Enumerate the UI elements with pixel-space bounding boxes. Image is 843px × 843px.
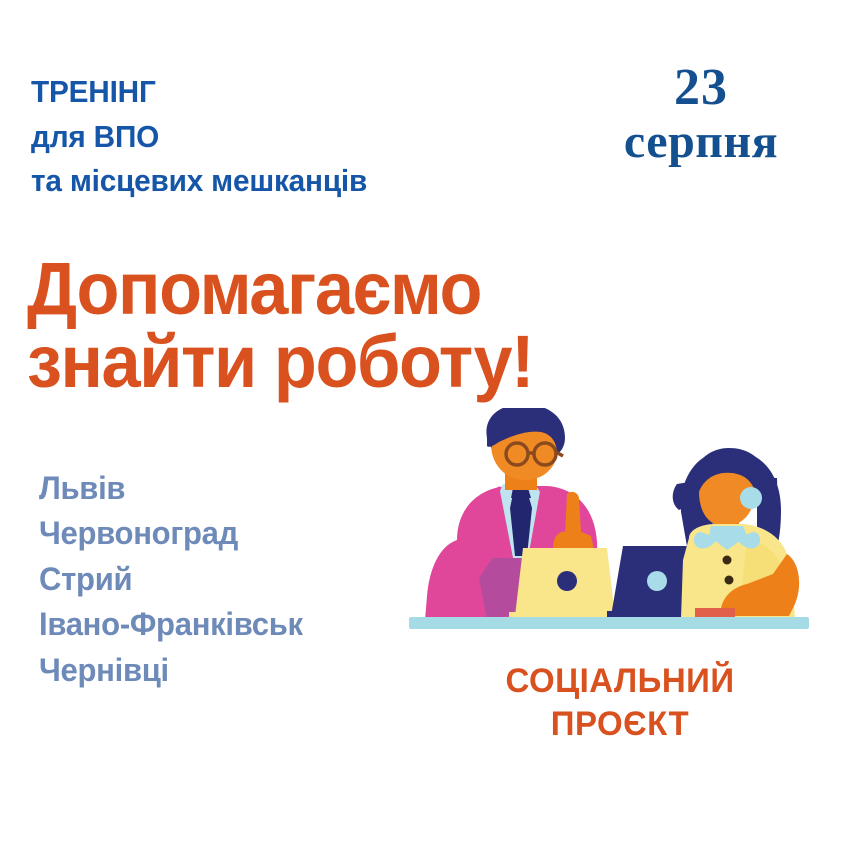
city-item-stryi: Стрий (39, 557, 427, 602)
city-item-ivano-frankivsk: Івано-Франківськ (39, 602, 427, 647)
main-headline: Допомагаємо знайти роботу! (27, 252, 616, 399)
city-item-lviv: Львів (39, 466, 427, 511)
woman-figure (673, 448, 799, 618)
city-item-chernivtsi: Чернівці (39, 648, 427, 693)
people-at-laptops-illustration (395, 408, 835, 643)
yellow-laptop-logo (557, 571, 577, 591)
caption-line-1: СОЦІАЛЬНИЙ (460, 660, 780, 703)
city-item-chervonohrad: Червоноград (39, 511, 427, 556)
eyebrow-line-3: та місцевих мешканців (31, 159, 549, 204)
event-date: 23 серпня (570, 60, 832, 168)
earring (740, 487, 762, 509)
date-month: серпня (570, 117, 832, 168)
date-day: 23 (570, 60, 832, 115)
blouse-button (723, 556, 732, 565)
blouse-button (725, 576, 734, 585)
poster-canvas: ТРЕНІНГ для ВПО та місцевих мешканців 23… (0, 0, 843, 843)
eyebrow-line-1: ТРЕНІНГ (31, 70, 549, 115)
caption-line-2: ПРОЄКТ (460, 703, 780, 746)
eyebrow-line-2: для ВПО (31, 115, 549, 160)
headline-line-1: Допомагаємо (27, 252, 616, 325)
eyebrow-heading: ТРЕНІНГ для ВПО та місцевих мешканців (31, 70, 549, 204)
yellow-laptop (509, 548, 621, 620)
desk-surface (409, 617, 809, 629)
social-project-caption: СОЦІАЛЬНИЙ ПРОЄКТ (460, 660, 780, 746)
city-list: Львів Червоноград Стрий Івано-Франківськ… (39, 466, 427, 693)
headline-line-2: знайти роботу! (27, 325, 616, 398)
navy-laptop-logo (647, 571, 667, 591)
